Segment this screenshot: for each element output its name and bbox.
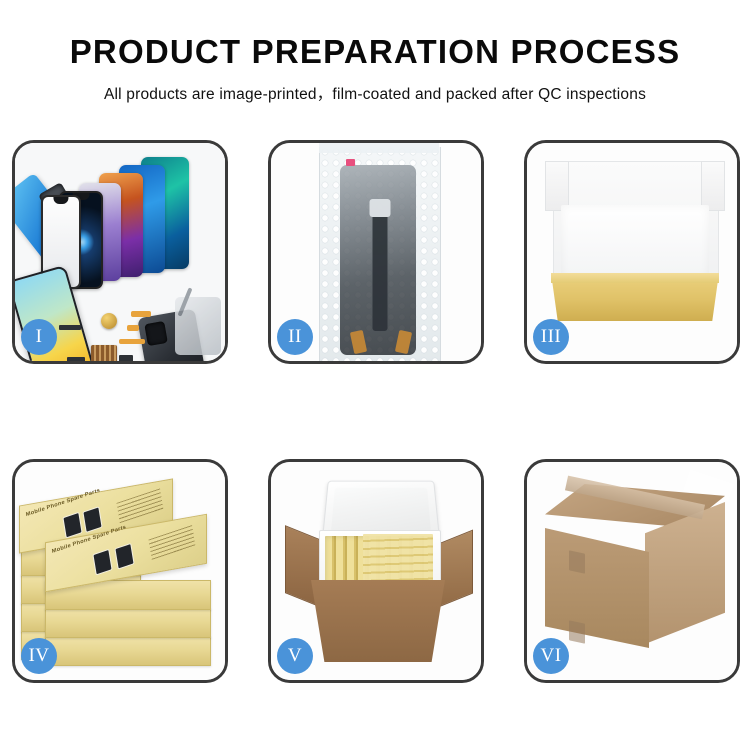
lcd-flex-cable bbox=[373, 213, 388, 331]
carton-front-face bbox=[545, 528, 649, 648]
flex-cable-1 bbox=[131, 311, 151, 317]
box-lid-spec-lines-1 bbox=[117, 488, 164, 524]
process-step-5[interactable]: V bbox=[268, 459, 484, 683]
bar-part-2 bbox=[67, 357, 85, 361]
step-1-badge: I bbox=[21, 319, 57, 355]
yellow-box-lip bbox=[551, 273, 719, 283]
process-step-3[interactable]: III bbox=[524, 140, 740, 364]
step-5-badge: V bbox=[277, 638, 313, 674]
bar-part-1 bbox=[59, 325, 81, 330]
step-6-badge: VI bbox=[533, 638, 569, 674]
bubble-wrap-bag bbox=[319, 147, 441, 361]
stacked-box-6 bbox=[45, 608, 211, 638]
inner-box-lid-left bbox=[545, 161, 569, 211]
carton-tab-lower bbox=[569, 620, 585, 643]
step-2-badge: II bbox=[277, 319, 313, 355]
box-lid-image-3 bbox=[92, 549, 112, 576]
flex-cable-2 bbox=[127, 325, 139, 331]
process-step-4[interactable]: Mobile Phone Spare Parts Mobile Phone Sp… bbox=[12, 459, 228, 683]
step-4-badge: IV bbox=[21, 638, 57, 674]
page-header: PRODUCT PREPARATION PROCESS All products… bbox=[0, 0, 750, 104]
speaker-part bbox=[101, 313, 117, 329]
page-subtitle: All products are image-printed，film-coat… bbox=[0, 70, 750, 104]
box-lid-image-2 bbox=[82, 506, 102, 533]
repair-tool bbox=[175, 297, 221, 355]
box-lid-image-4 bbox=[114, 543, 134, 570]
bag-seal bbox=[319, 143, 439, 153]
flex-cable-3 bbox=[119, 339, 145, 344]
page-title: PRODUCT PREPARATION PROCESS bbox=[0, 0, 750, 70]
stacked-box-5 bbox=[45, 636, 211, 666]
process-step-6[interactable]: VI bbox=[524, 459, 740, 683]
process-step-2[interactable]: II bbox=[268, 140, 484, 364]
pink-label-tab bbox=[346, 159, 355, 166]
process-step-1[interactable]: I bbox=[12, 140, 228, 364]
white-foam-sheet bbox=[561, 205, 709, 279]
step-3-badge: III bbox=[533, 319, 569, 355]
box-lid-spec-lines-2 bbox=[149, 525, 196, 561]
carton-body bbox=[311, 580, 445, 662]
yellow-boxes-row-2 bbox=[363, 534, 433, 586]
mesh-part bbox=[91, 345, 117, 361]
process-step-grid: I II III bbox=[12, 140, 740, 683]
inner-box-lid-right bbox=[701, 161, 725, 211]
bar-part-5 bbox=[119, 355, 133, 361]
box-lid-image-1 bbox=[62, 512, 82, 539]
carton-tab-upper bbox=[569, 550, 585, 573]
